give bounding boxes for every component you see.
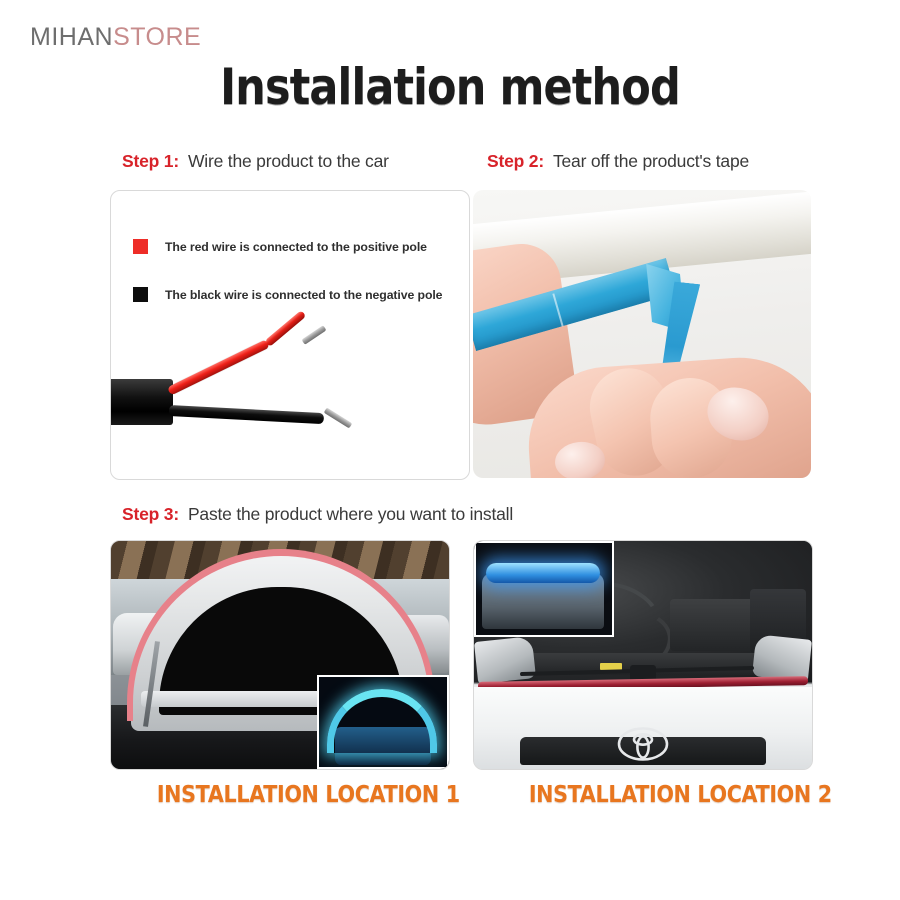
location-1-photo (111, 541, 449, 769)
step-2-text: Tear off the product's tape (553, 151, 749, 171)
legend-red-wire-label: The red wire is connected to the positiv… (165, 240, 427, 254)
legend-row-black-wire: The black wire is connected to the negat… (133, 287, 442, 302)
inset-blue-glow-graphic (327, 689, 437, 753)
engine-cover-graphic (670, 599, 756, 651)
black-wire-graphic (169, 405, 324, 424)
tape-peel-photo (473, 190, 811, 478)
brand-logo: MIHANSTORE (30, 23, 201, 52)
black-swatch-icon (133, 287, 148, 302)
step-1-panel: The red wire is connected to the positiv… (110, 190, 470, 480)
location-1-inset-photo (317, 675, 449, 769)
brand-logo-part1: MIHAN (30, 23, 113, 51)
location-2-inset-photo (474, 541, 614, 637)
location-1-caption: INSTALLATION LOCATION 1 (157, 781, 460, 809)
step-3-label: Step 3:Paste the product where you want … (122, 503, 513, 525)
step-3-number: Step 3: (122, 504, 179, 524)
inset-blue-bumper-glow-graphic (486, 563, 600, 583)
toyota-logo-icon (617, 727, 669, 761)
location-1-panel (110, 540, 450, 770)
wire-photo (111, 331, 469, 479)
step-1-label: Step 1:Wire the product to the car (122, 150, 389, 172)
headlight-left-graphic (474, 636, 536, 684)
legend-black-wire-label: The black wire is connected to the negat… (165, 288, 442, 302)
headlight-right-graphic (752, 634, 812, 682)
step-1-text: Wire the product to the car (188, 151, 389, 171)
red-wire-tip-icon (302, 325, 327, 345)
location-2-panel (473, 540, 813, 770)
step-1-number: Step 1: (122, 151, 179, 171)
location-2-caption: INSTALLATION LOCATION 2 (529, 781, 832, 809)
red-wire-upper-graphic (264, 310, 306, 347)
step-2-panel (473, 190, 811, 478)
black-wire-tip-icon (324, 408, 353, 429)
red-swatch-icon (133, 239, 148, 254)
step-2-number: Step 2: (487, 151, 544, 171)
brand-logo-part2: STORE (113, 23, 201, 51)
legend-row-red-wire: The red wire is connected to the positiv… (133, 239, 427, 254)
red-wire-graphic (167, 339, 270, 395)
step-2-label: Step 2:Tear off the product's tape (487, 150, 749, 172)
location-2-photo (474, 541, 812, 769)
cable-sleeve-graphic (110, 379, 173, 425)
page-title: Installation method (63, 58, 837, 116)
step-3-text: Paste the product where you want to inst… (188, 504, 513, 524)
